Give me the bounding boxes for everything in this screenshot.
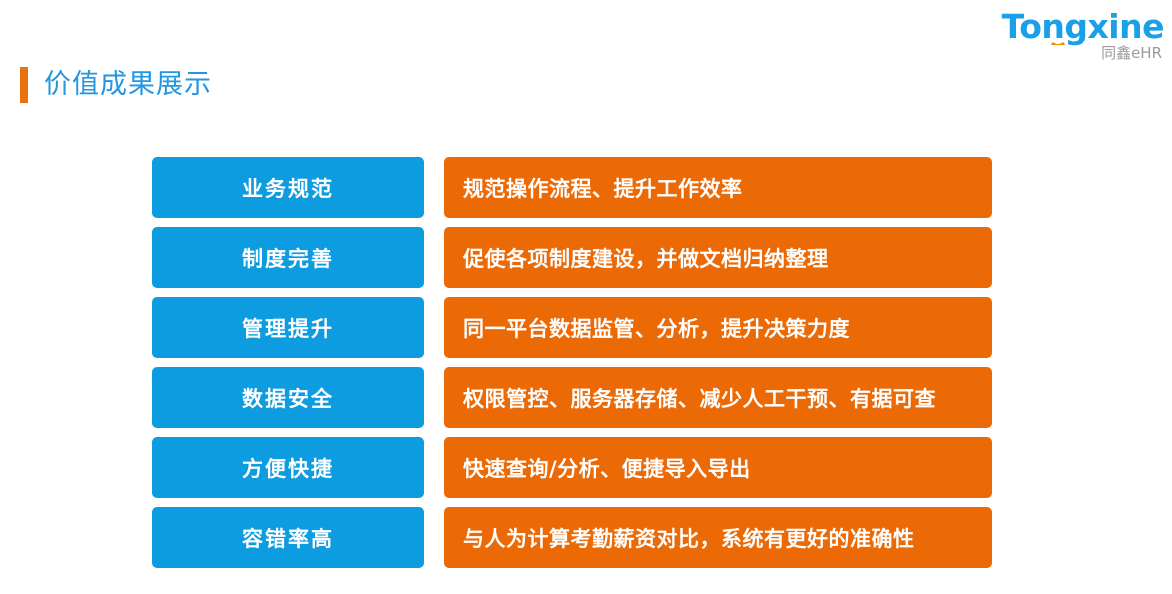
list-item: 管理提升 同一平台数据监管、分析，提升决策力度 (152, 297, 992, 358)
row-description: 同一平台数据监管、分析，提升决策力度 (444, 297, 992, 358)
row-description: 规范操作流程、提升工作效率 (444, 157, 992, 218)
row-label-badge: 业务规范 (152, 157, 424, 218)
orange-smile-icon (1048, 36, 1066, 45)
list-item: 业务规范 规范操作流程、提升工作效率 (152, 157, 992, 218)
row-description: 快速查询/分析、便捷导入导出 (444, 437, 992, 498)
row-label-badge: 制度完善 (152, 227, 424, 288)
row-description: 与人为计算考勤薪资对比，系统有更好的准确性 (444, 507, 992, 568)
value-results-list: 业务规范 规范操作流程、提升工作效率 制度完善 促使各项制度建设，并做文档归纳整… (152, 157, 992, 568)
page-header: 价值成果展示 (20, 67, 212, 103)
list-item: 容错率高 与人为计算考勤薪资对比，系统有更好的准确性 (152, 507, 992, 568)
list-item: 方便快捷 快速查询/分析、便捷导入导出 (152, 437, 992, 498)
row-label-badge: 数据安全 (152, 367, 424, 428)
list-item: 数据安全 权限管控、服务器存储、减少人工干预、有据可查 (152, 367, 992, 428)
row-description: 权限管控、服务器存储、减少人工干预、有据可查 (444, 367, 992, 428)
row-label-badge: 方便快捷 (152, 437, 424, 498)
page-title: 价值成果展示 (44, 67, 212, 103)
row-description: 促使各项制度建设，并做文档归纳整理 (444, 227, 992, 288)
brand-logo: Tongxine 同鑫eHR (988, 10, 1164, 66)
row-label-badge: 管理提升 (152, 297, 424, 358)
list-item: 制度完善 促使各项制度建设，并做文档归纳整理 (152, 227, 992, 288)
title-accent-bar (20, 67, 28, 103)
logo-subtitle: 同鑫eHR (988, 45, 1164, 61)
logo-wordmark-text: Tongxine (1002, 10, 1164, 44)
row-label-badge: 容错率高 (152, 507, 424, 568)
